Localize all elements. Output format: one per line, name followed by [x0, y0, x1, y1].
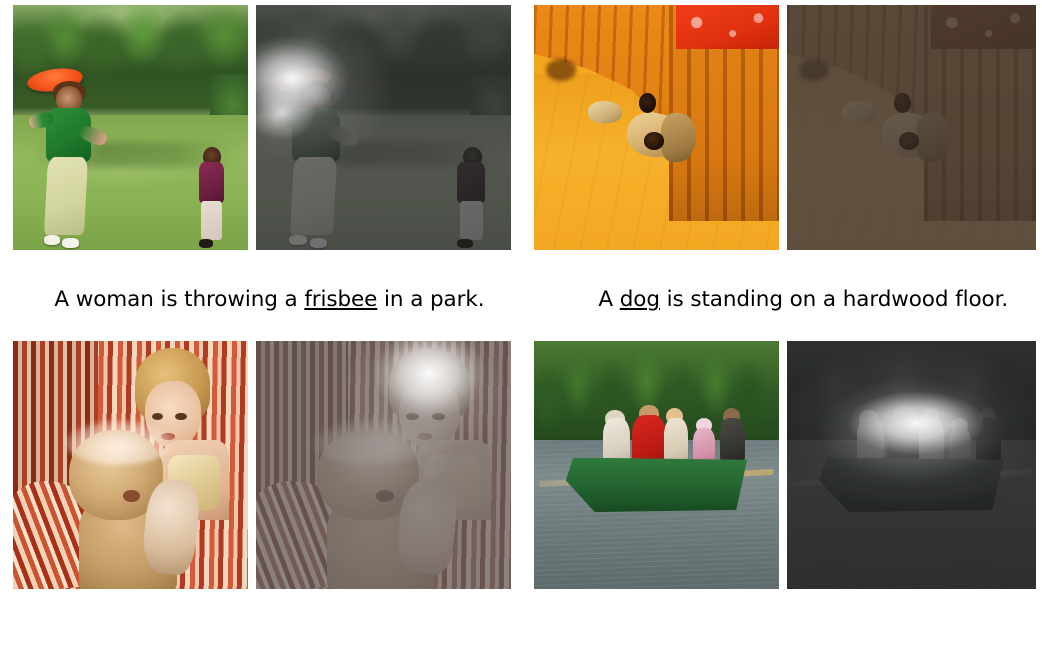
panel-dog-original-image: [534, 5, 779, 250]
panel-boat-attention-heatmap: [787, 341, 1036, 589]
panel-teddy-original-image: [13, 341, 248, 589]
caption-dog-pre: A: [598, 287, 619, 312]
caption-dog-keyword: dog: [620, 287, 660, 312]
panel-frisbee: A woman is throwing a frisbee in a park.: [13, 5, 511, 291]
panel-dog: A dog is standing on a hardwood floor.: [534, 5, 1036, 291]
panel-dog-images: [534, 5, 1036, 250]
panel-frisbee-images: [13, 5, 511, 250]
caption-dog-post: is standing on a hardwood floor.: [660, 287, 1008, 312]
panel-teddy: A little girl sitting on a bed with a te…: [13, 341, 511, 661]
caption-frisbee-pre: A woman is throwing a: [54, 287, 304, 312]
panel-frisbee-attention-heatmap: [256, 5, 511, 250]
panel-boat-original-image: [534, 341, 779, 589]
caption-frisbee-post: in a park.: [377, 287, 484, 312]
panel-teddy-attention-heatmap: [256, 341, 511, 589]
caption-frisbee: A woman is throwing a frisbee in a park.: [14, 261, 512, 339]
panel-boat-images: [534, 341, 1036, 589]
panel-frisbee-original-image: [13, 5, 248, 250]
caption-dog: A dog is standing on a hardwood floor.: [558, 261, 1036, 339]
panel-teddy-images: [13, 341, 511, 589]
caption-frisbee-keyword: frisbee: [304, 287, 377, 312]
attention-visualization-figure: A woman is throwing a frisbee in a park.: [0, 0, 1042, 666]
panel-dog-attention-heatmap: [787, 5, 1036, 250]
boat-hull: [566, 458, 747, 513]
panel-boat: A group of people sitting on a boat in t…: [534, 341, 1036, 661]
